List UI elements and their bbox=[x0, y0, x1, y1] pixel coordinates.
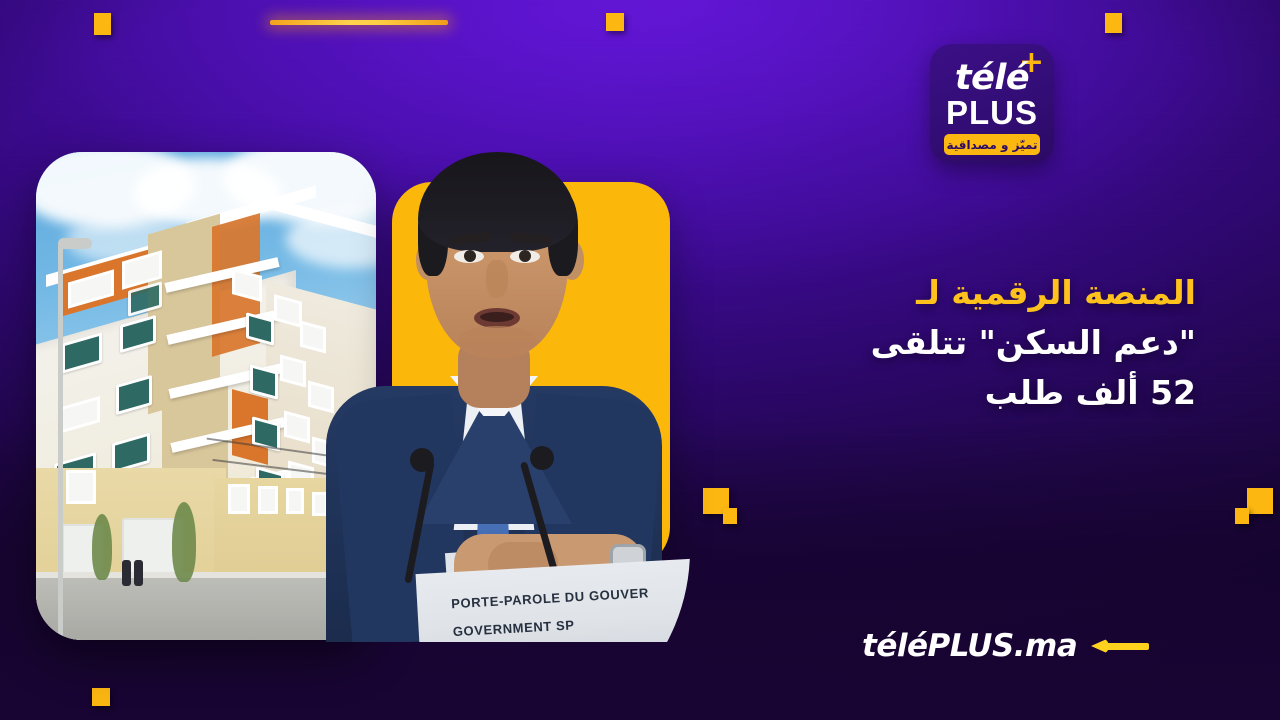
arrow-left-icon bbox=[1091, 638, 1149, 654]
logo-tagline: تميّز و مصداقية bbox=[944, 134, 1040, 155]
street-lamp-pole bbox=[58, 244, 63, 640]
chin bbox=[458, 326, 536, 354]
window bbox=[258, 486, 278, 514]
headline-line-1: المنصة الرقمية لـ bbox=[716, 268, 1196, 318]
decor-square bbox=[94, 13, 111, 35]
arrow-head bbox=[1091, 638, 1109, 654]
tree bbox=[92, 514, 112, 580]
mouth-inner bbox=[480, 312, 514, 322]
decor-square bbox=[1235, 508, 1249, 524]
headline: المنصة الرقمية لـ "دعم السكن" تتلقى 52 أ… bbox=[716, 268, 1196, 418]
window bbox=[228, 484, 250, 514]
pupil bbox=[464, 250, 476, 262]
teleplus-logo[interactable]: + télé PLUS تميّز و مصداقية bbox=[930, 44, 1054, 164]
pedestrian bbox=[134, 560, 143, 586]
decor-square bbox=[723, 508, 737, 524]
podium-line-fr: PORTE-PAROLE DU GOUVER bbox=[451, 585, 649, 611]
podium-line-en: GOVERNMENT SP bbox=[452, 617, 575, 639]
speaker-photo-mask: PORTE-PAROLE DU GOUVER GOVERNMENT SP bbox=[298, 130, 690, 642]
nose bbox=[486, 260, 508, 298]
logo-tele-word: télé bbox=[930, 58, 1054, 98]
speaker-photo: PORTE-PAROLE DU GOUVER GOVERNMENT SP bbox=[298, 130, 690, 642]
street-lamp-head bbox=[58, 238, 92, 249]
microphone-head bbox=[410, 448, 434, 472]
tree bbox=[172, 502, 196, 582]
website-url[interactable]: téléPLUS.ma bbox=[862, 628, 1077, 664]
decor-line bbox=[270, 20, 448, 25]
pedestrian bbox=[122, 560, 131, 586]
decor-square bbox=[1247, 488, 1273, 514]
microphone-head bbox=[530, 446, 554, 470]
headline-line-2: "دعم السكن" تتلقى bbox=[716, 318, 1196, 368]
logo-plus-word: PLUS bbox=[930, 94, 1054, 132]
arrow-shaft bbox=[1105, 643, 1149, 650]
pupil bbox=[519, 250, 531, 262]
news-card-canvas: PORTE-PAROLE DU GOUVER GOVERNMENT SP الم… bbox=[0, 0, 1280, 720]
decor-square bbox=[1105, 13, 1122, 33]
decor-square bbox=[92, 688, 110, 706]
window bbox=[66, 470, 96, 504]
decor-square bbox=[606, 13, 624, 31]
headline-line-3: 52 ألف طلب bbox=[716, 368, 1196, 418]
footer-branding: téléPLUS.ma bbox=[862, 624, 1149, 668]
